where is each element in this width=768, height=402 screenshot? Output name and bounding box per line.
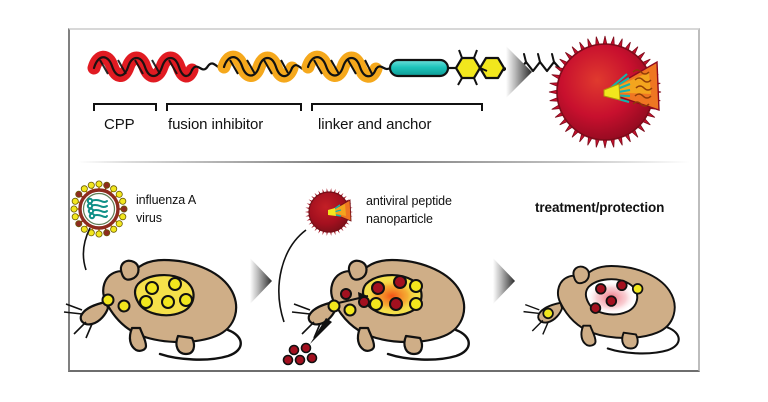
label-cpp: CPP <box>104 117 135 133</box>
anchor-hexagons-icon <box>456 50 504 85</box>
label-fusion-inhibitor: fusion inhibitor <box>168 117 263 133</box>
label-treatment-protection: treatment/protection <box>535 200 664 216</box>
peptide-construct-schematic <box>88 38 498 96</box>
peptide-nanoparticle-large-icon <box>545 32 665 152</box>
bracket-cpp <box>93 103 157 111</box>
arrow-top-right <box>506 46 532 98</box>
bracket-fusion-inhibitor <box>166 103 302 111</box>
label-influenza-line2: virus <box>136 211 162 225</box>
mouse-1-infected <box>60 250 255 365</box>
fusion-inhibitor-helix-icon-2 <box>308 57 376 76</box>
cpp-helix-icon <box>94 57 192 76</box>
fusion-inhibitor-helix-icon <box>224 57 292 76</box>
intranasal-spray-droplets <box>280 318 340 368</box>
label-nanoparticle-line2: nanoparticle <box>366 212 433 226</box>
linker-rod-icon <box>390 60 448 76</box>
bracket-linker-anchor <box>311 103 483 111</box>
label-influenza-line1: influenza A <box>136 193 196 207</box>
mouse-3-protected <box>520 250 700 368</box>
panel-divider <box>78 161 690 163</box>
arrow-step2-to-step3 <box>493 258 515 304</box>
label-nanoparticle-line1: antiviral peptide <box>366 194 452 208</box>
figure-canvas: CPP fusion inhibitor linker and anchor <box>0 0 768 402</box>
label-linker-and-anchor: linker and anchor <box>318 117 431 133</box>
